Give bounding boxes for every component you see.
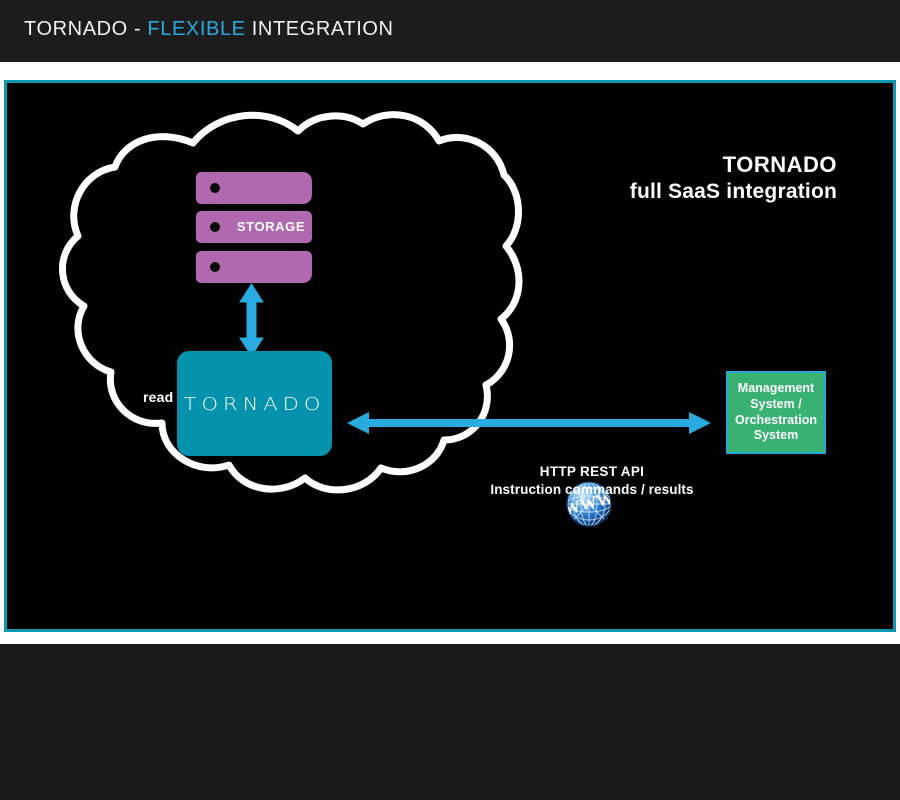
slide-title-prefix: TORNADO - [24,18,147,40]
management-system-box: Management System / Orchestration System [726,371,826,454]
storage-bar [196,172,312,204]
read-write-arrow [240,284,263,356]
storage-bar [196,251,312,283]
diagram-stage: TORNADO full SaaS integration STORAGE re… [4,80,896,632]
storage-bar: STORAGE [196,211,312,243]
header-divider-strip [0,62,900,80]
headline-block: TORNADO full SaaS integration [630,151,837,206]
tornado-product-label: TORNADO [184,393,326,414]
tornado-product-box: TORNADO [177,351,332,456]
slide-footer-panel [0,644,900,800]
slide-title: TORNADO - FLEXIBLE INTEGRATION [24,18,394,41]
slide-title-suffix: INTEGRATION [246,18,394,40]
api-caption-line-1: HTTP REST API [447,463,737,481]
slide-header-bar: TORNADO - FLEXIBLE INTEGRATION [0,0,900,62]
slide-title-accent: FLEXIBLE [147,18,245,40]
headline-line-2: full SaaS integration [630,179,837,206]
api-caption-line-2: Instruction commands / results [447,481,737,499]
storage-bar-label [236,251,306,283]
headline-line-1: TORNADO [630,151,837,179]
storage-indicator-icon [210,262,220,272]
storage-bar-label: STORAGE [236,211,306,243]
storage-indicator-icon [210,183,220,193]
management-system-label: Management System / Orchestration System [733,381,819,444]
storage-bar-label [236,172,306,204]
api-arrow [347,412,711,434]
api-caption-block: HTTP REST API Instruction commands / res… [447,463,737,498]
storage-indicator-icon [210,222,220,232]
footer-divider-strip [0,632,900,644]
